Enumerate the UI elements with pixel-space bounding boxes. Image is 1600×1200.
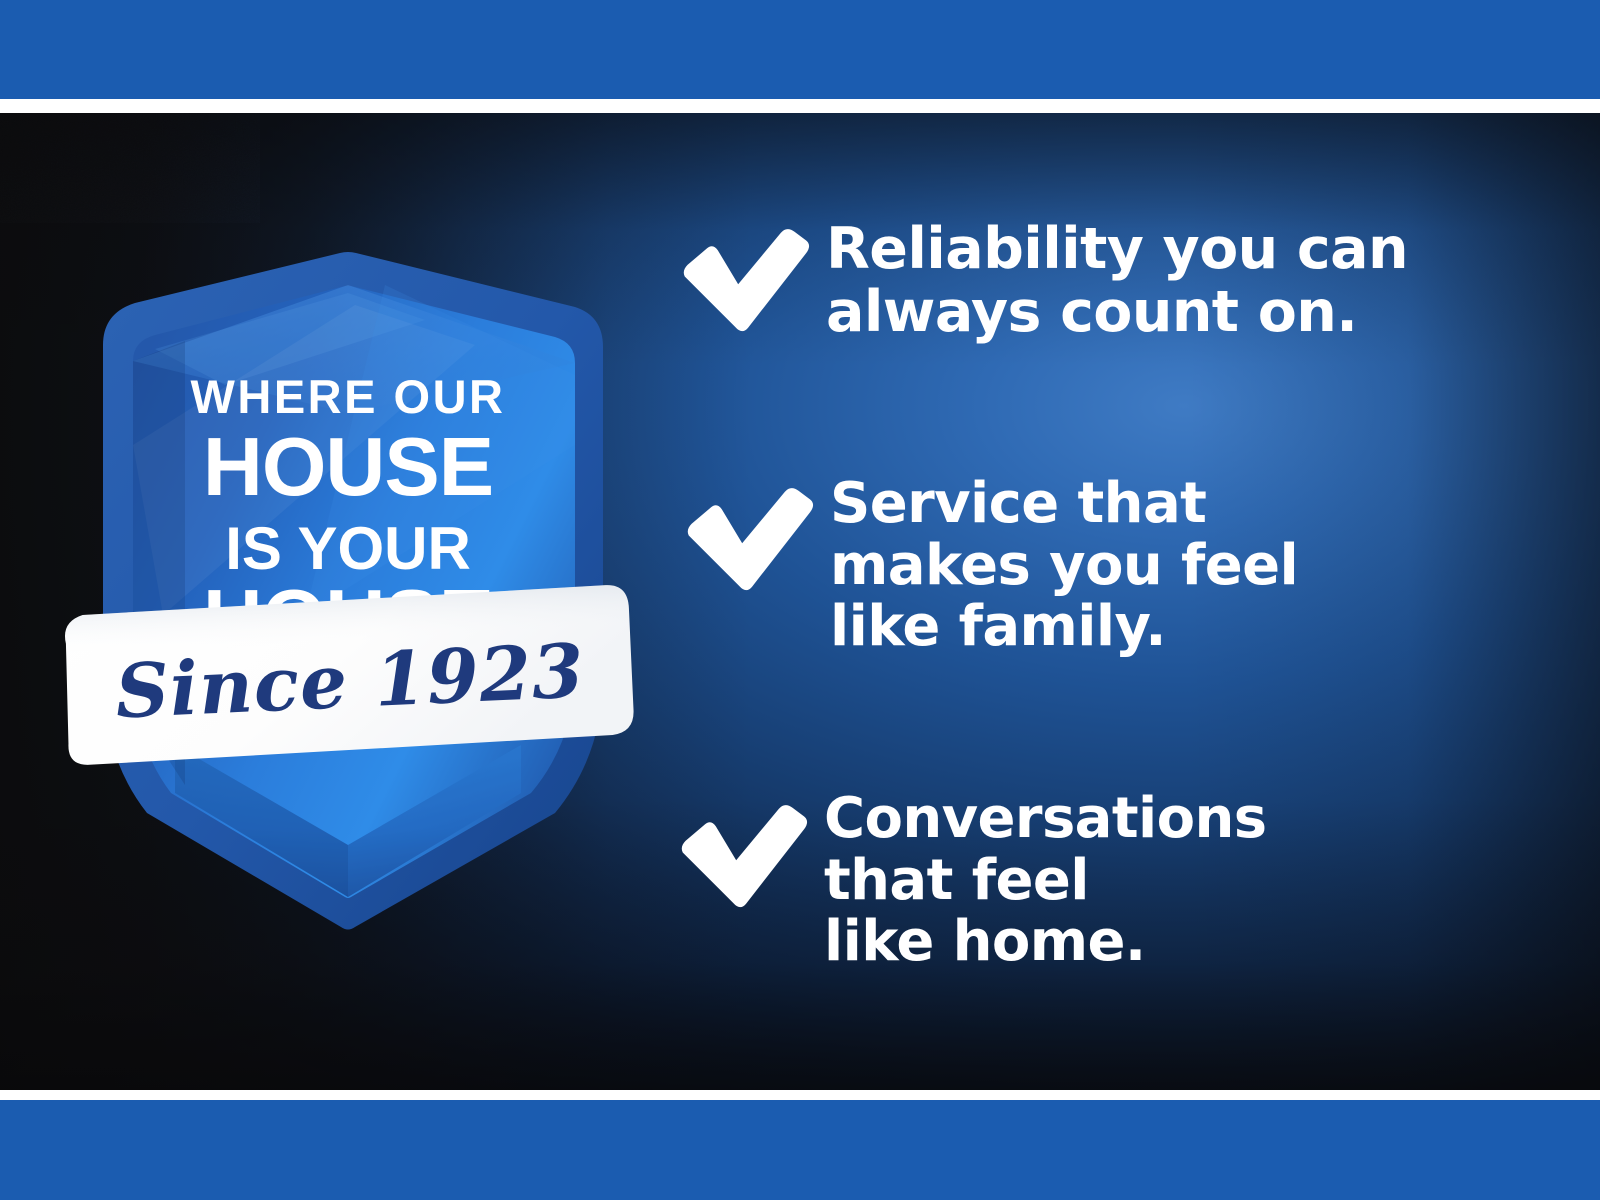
check-icon (674, 788, 824, 909)
benefit-item-reliability: Reliability you can always count on. (676, 218, 1408, 343)
shield-line-1: WHERE OUR (191, 370, 506, 423)
benefits-list: Reliability you can always count on. Ser… (668, 113, 1548, 1090)
top-brand-bar (0, 0, 1600, 99)
bottom-white-divider (0, 1089, 1600, 1100)
promo-graphic: WHERE OUR HOUSE IS YOUR HOUSE Since 1923… (0, 0, 1600, 1200)
since-ribbon: Since 1923 (62, 584, 635, 766)
shield-line-2: HOUSE (203, 420, 493, 513)
benefit-text: Conversations that feel like home. (824, 788, 1267, 973)
bottom-brand-bar (0, 1100, 1600, 1200)
check-icon (676, 218, 826, 333)
top-white-divider (0, 99, 1600, 113)
check-icon (680, 473, 830, 592)
benefit-text: Service that makes you feel like family. (830, 473, 1298, 658)
benefit-text: Reliability you can always count on. (826, 218, 1408, 343)
company-shield-logo: WHERE OUR HOUSE IS YOUR HOUSE Since 1923 (55, 145, 640, 945)
benefit-item-service: Service that makes you feel like family. (680, 473, 1298, 658)
benefit-item-conversations: Conversations that feel like home. (674, 788, 1267, 973)
